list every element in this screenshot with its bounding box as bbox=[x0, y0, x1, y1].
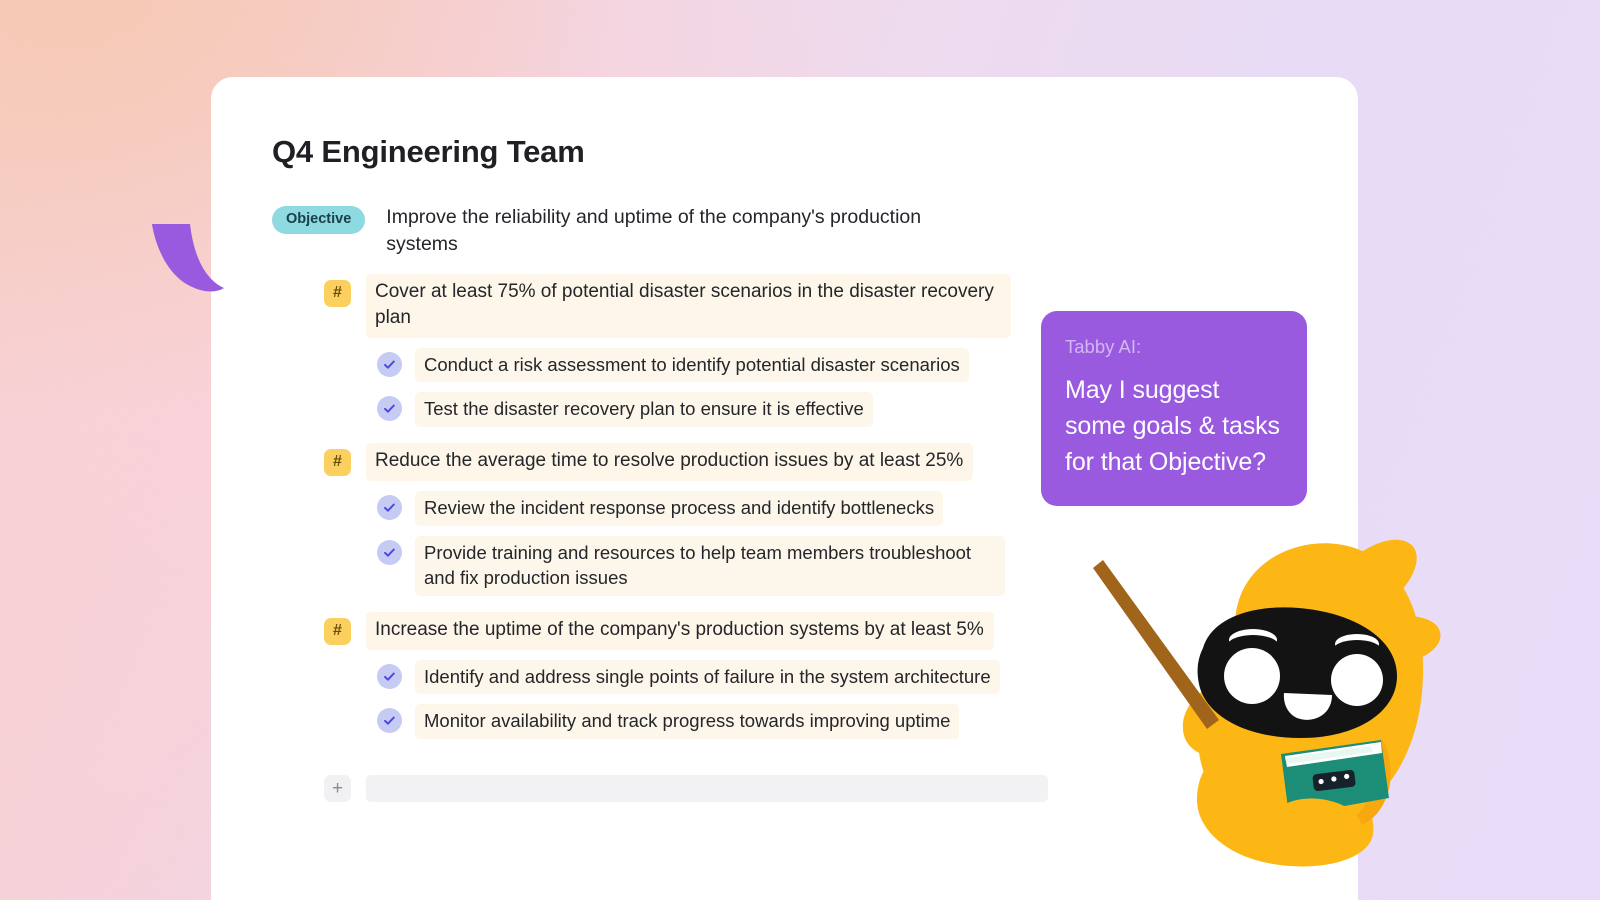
hash-icon[interactable]: # bbox=[324, 449, 351, 476]
assistant-speech-bubble[interactable]: Tabby AI: May I suggest some goals & tas… bbox=[1041, 311, 1307, 506]
check-icon[interactable] bbox=[377, 664, 402, 689]
pointer-stick bbox=[1093, 560, 1219, 729]
assistant-name-label: Tabby AI: bbox=[1065, 335, 1283, 358]
objective-badge[interactable]: Objective bbox=[272, 206, 365, 234]
goal-text[interactable]: Cover at least 75% of potential disaster… bbox=[366, 274, 1011, 338]
plus-icon[interactable]: + bbox=[324, 775, 351, 802]
check-icon[interactable] bbox=[377, 495, 402, 520]
add-item-input[interactable] bbox=[366, 775, 1048, 802]
check-icon[interactable] bbox=[377, 708, 402, 733]
goal-text[interactable]: Increase the uptime of the company's pro… bbox=[366, 612, 994, 650]
check-icon[interactable] bbox=[377, 396, 402, 421]
objective-text[interactable]: Improve the reliability and uptime of th… bbox=[386, 204, 966, 257]
hash-icon[interactable]: # bbox=[324, 618, 351, 645]
goal-text[interactable]: Reduce the average time to resolve produ… bbox=[366, 443, 973, 481]
tabby-robot-mascot bbox=[1085, 508, 1445, 878]
task-text[interactable]: Identify and address single points of fa… bbox=[415, 660, 1000, 695]
assistant-message: May I suggest some goals & tasks for tha… bbox=[1065, 372, 1283, 480]
objective-row[interactable]: Objective Improve the reliability and up… bbox=[272, 204, 1358, 257]
task-text[interactable]: Monitor availability and track progress … bbox=[415, 704, 959, 739]
page-title: Q4 Engineering Team bbox=[272, 135, 1358, 169]
task-text[interactable]: Review the incident response process and… bbox=[415, 491, 943, 526]
task-text[interactable]: Provide training and resources to help t… bbox=[415, 536, 1005, 596]
task-text[interactable]: Test the disaster recovery plan to ensur… bbox=[415, 392, 873, 427]
hash-icon[interactable]: # bbox=[324, 280, 351, 307]
task-text[interactable]: Conduct a risk assessment to identify po… bbox=[415, 348, 969, 383]
check-icon[interactable] bbox=[377, 352, 402, 377]
check-icon[interactable] bbox=[377, 540, 402, 565]
speech-bubble-tail bbox=[150, 224, 240, 302]
